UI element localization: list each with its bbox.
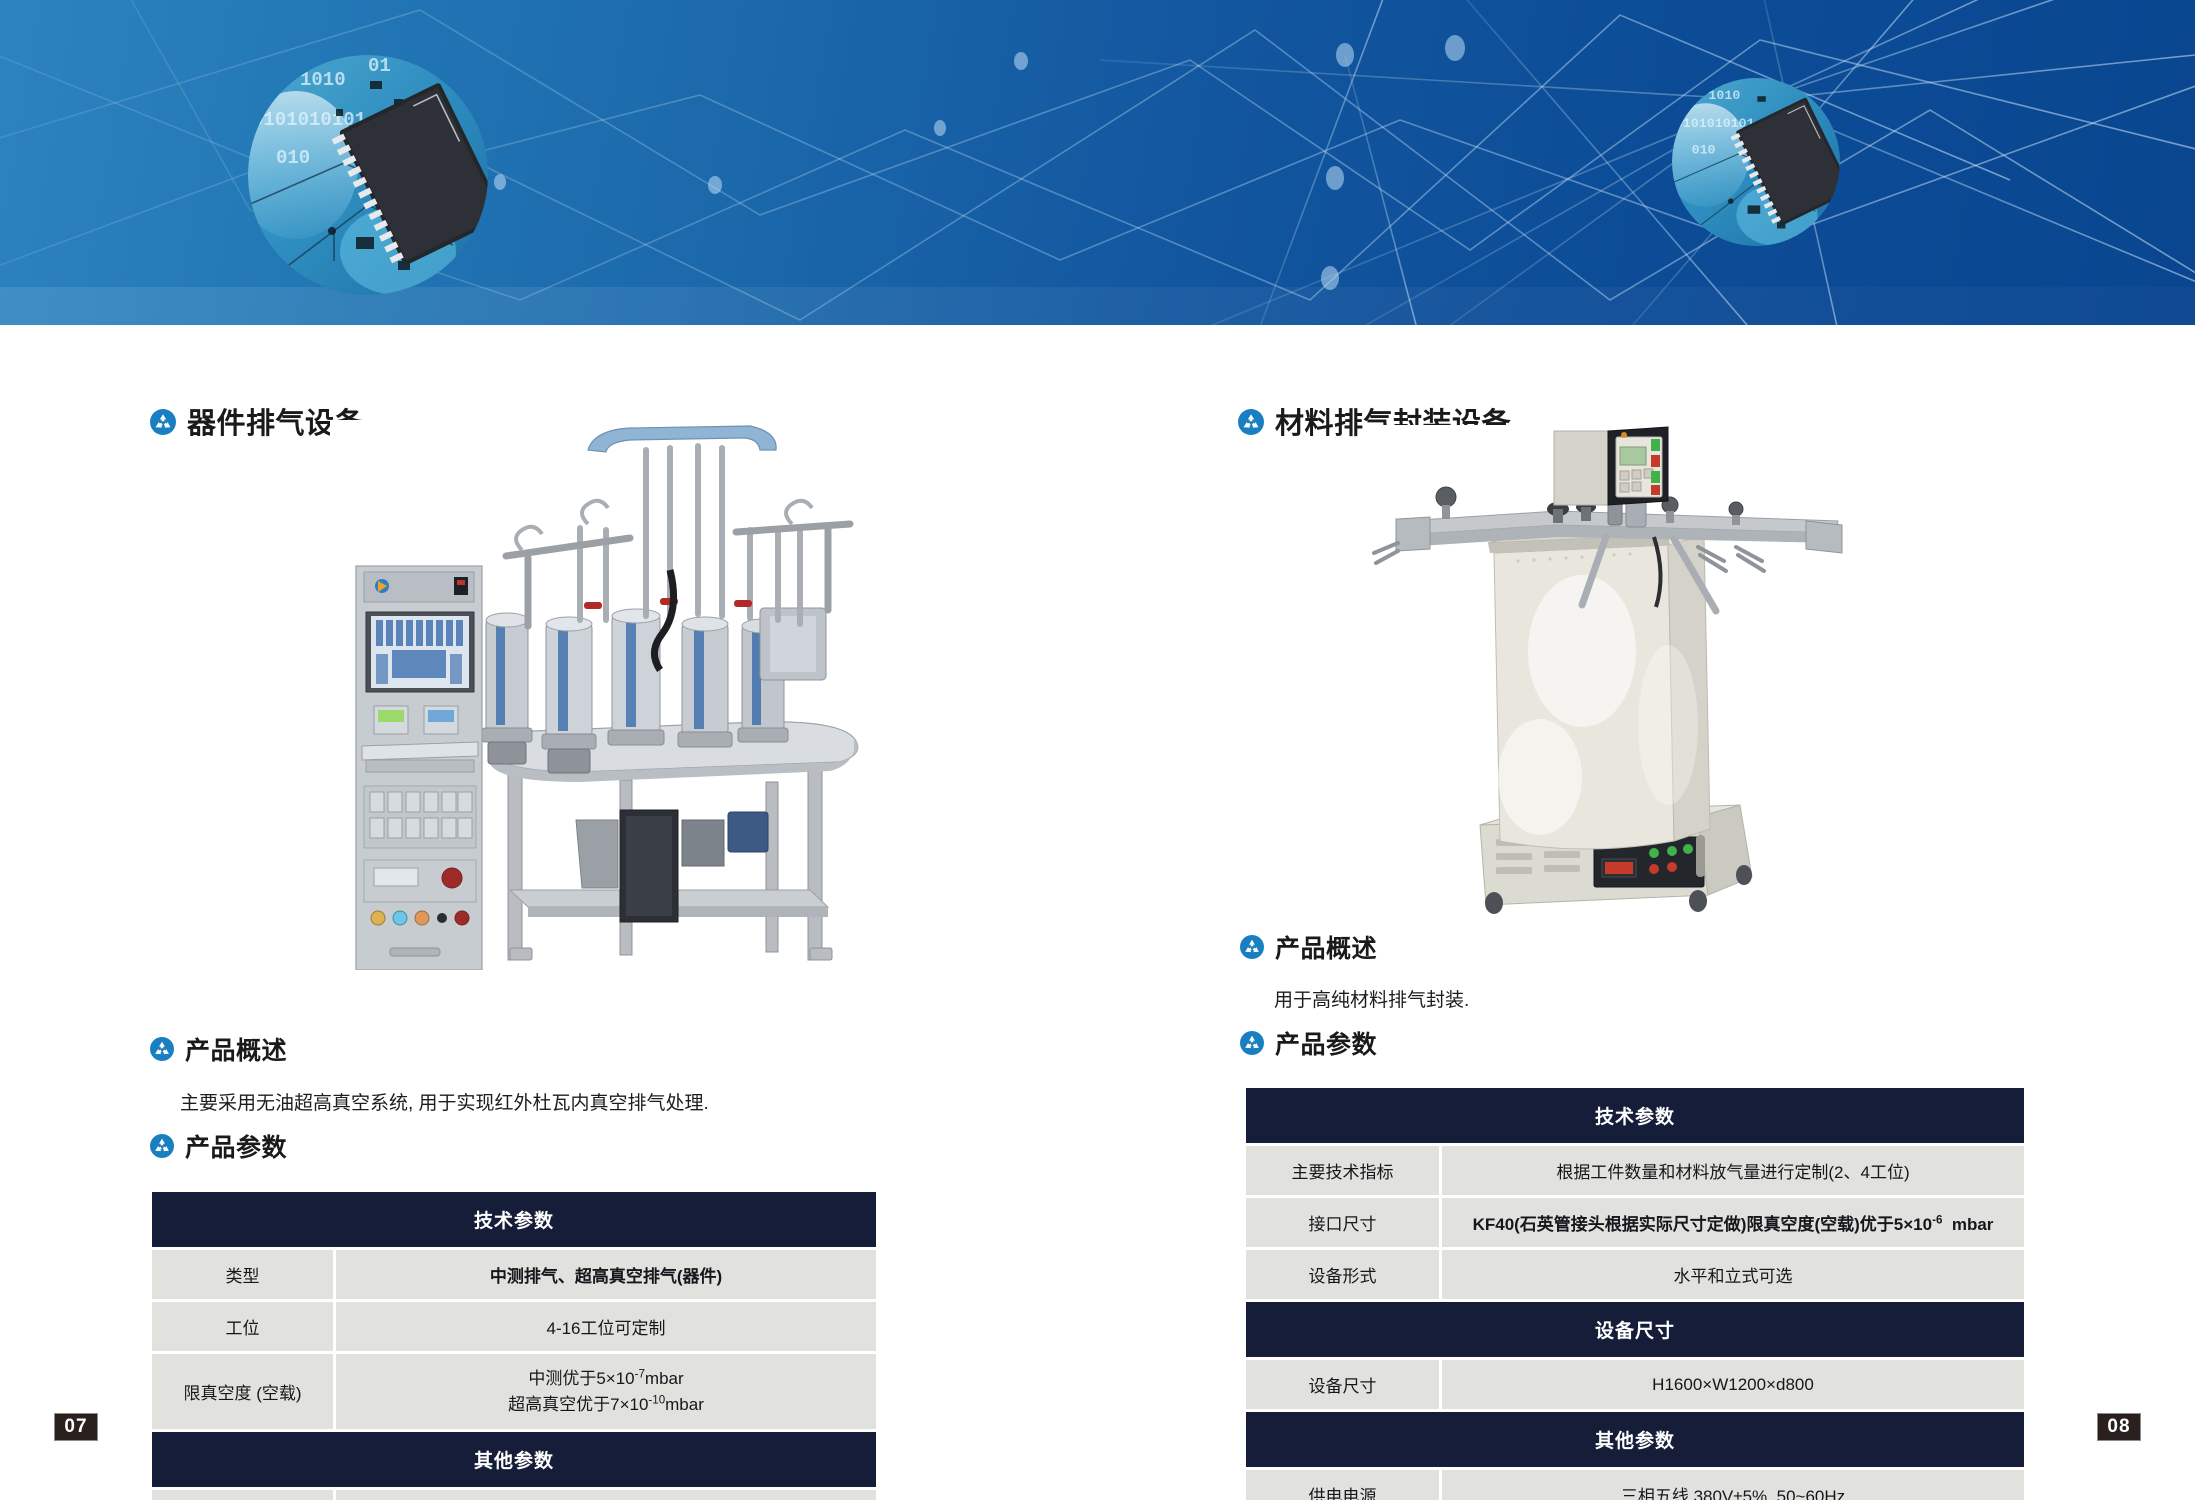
group-title-tech: 技术参数 — [152, 1192, 876, 1250]
recycle-bullet-icon — [1238, 409, 1264, 440]
table-row: 供电电源 三相五线 380V±5%, 50~60Hz — [1246, 1470, 2024, 1500]
row-label: 限真空度 (空载) — [152, 1354, 336, 1432]
row-value: 根据工件数量和材料放气量进行定制(2、4工位) — [1442, 1146, 2024, 1198]
right-overview-text: 用于高纯材料排气封装. — [1274, 987, 1894, 1016]
svg-text:1010: 1010 — [1708, 88, 1740, 103]
left-overview-text: 主要采用无油超高真空系统, 用于实现红外杜瓦内真空排气处理. — [180, 1090, 880, 1119]
vacuum-line-2: 超高真空优于7×10-10mbar — [344, 1392, 868, 1418]
recycle-bullet-icon — [1240, 1031, 1264, 1060]
table-row: 设备尺寸 H1600×W1200×d800 — [1246, 1360, 2024, 1412]
right-spec-table: 技术参数 主要技术指标 根据工件数量和材料放气量进行定制(2、4工位) 接口尺寸… — [1246, 1088, 2024, 1500]
row-label: 主要技术指标 — [1246, 1146, 1442, 1198]
svg-text:1010: 1010 — [300, 69, 346, 91]
row-value: H1600×W1200×d800 — [1442, 1360, 2024, 1412]
page-number-right: 08 — [2097, 1413, 2141, 1441]
group-title-other: 其他参数 — [1246, 1412, 2024, 1470]
row-value: 中测优于5×10-7mbar 超高真空优于7×10-10mbar — [336, 1354, 876, 1432]
page-number-left: 07 — [54, 1413, 98, 1441]
svg-text:01: 01 — [368, 55, 391, 77]
right-params-heading: 产品参数 — [1275, 1033, 1377, 1058]
banner-chip-photo-left: 10100101010101 01001 — [248, 55, 488, 295]
row-value: KF40(石英管接头根据实际尺寸定做)限真空度(空载)优于5×10-6 mbar — [1442, 1198, 2024, 1250]
banner-bottom-band — [0, 287, 2195, 325]
left-spec-table-wrap: 技术参数 类型 中测排气、超高真空排气(器件) 工位 4-16工位可定制 限真空… — [152, 1192, 876, 1500]
table-row: 设备形式 水平和立式可选 — [1246, 1250, 2024, 1302]
table-row: 接口尺寸 KF40(石英管接头根据实际尺寸定做)限真空度(空载)优于5×10-6… — [1246, 1198, 2024, 1250]
right-overview-heading: 产品概述 — [1275, 937, 1377, 962]
svg-text:010: 010 — [276, 147, 310, 169]
table-group-header-row: 设备尺寸 — [1246, 1302, 2024, 1360]
row-value: 三相五线 380V±5%, 50~60Hz — [1442, 1470, 2024, 1500]
left-overview-heading-row: 产品概述 — [150, 1037, 287, 1066]
right-spec-table-wrap: 技术参数 主要技术指标 根据工件数量和材料放气量进行定制(2、4工位) 接口尺寸… — [1246, 1088, 2024, 1500]
row-label: 类型 — [152, 1250, 336, 1302]
recycle-bullet-icon — [150, 409, 176, 440]
recycle-bullet-icon — [150, 1037, 174, 1066]
banner-chip-photo-right: 10100101010101 010 — [1672, 78, 1840, 246]
table-group-header-row: 技术参数 — [1246, 1088, 2024, 1146]
device-exhaust-equipment-photo — [330, 420, 930, 975]
material-exhaust-sealing-equipment-photo — [1368, 425, 1868, 960]
right-overview-heading-row: 产品概述 — [1240, 935, 1377, 964]
brochure-page: 10100101010101 01001 — [0, 0, 2195, 1500]
svg-text:010: 010 — [1692, 143, 1716, 158]
row-value: 4-16工位可定制 — [336, 1302, 876, 1354]
table-group-header-row: 其他参数 — [152, 1432, 876, 1490]
group-title-tech: 技术参数 — [1246, 1088, 2024, 1146]
group-title-dimensions: 设备尺寸 — [1246, 1302, 2024, 1360]
left-spec-table: 技术参数 类型 中测排气、超高真空排气(器件) 工位 4-16工位可定制 限真空… — [152, 1192, 876, 1500]
row-label: 设备形式 — [1246, 1250, 1442, 1302]
left-overview-heading: 产品概述 — [185, 1039, 287, 1064]
recycle-bullet-icon — [1240, 935, 1264, 964]
row-label: 设备尺寸 — [1246, 1360, 1442, 1412]
row-label: 供电电源 — [152, 1490, 336, 1500]
group-title-other: 其他参数 — [152, 1432, 876, 1490]
table-row: 工位 4-16工位可定制 — [152, 1302, 876, 1354]
row-label: 接口尺寸 — [1246, 1198, 1442, 1250]
row-label: 供电电源 — [1246, 1470, 1442, 1500]
table-row: 类型 中测排气、超高真空排气(器件) — [152, 1250, 876, 1302]
table-row: 主要技术指标 根据工件数量和材料放气量进行定制(2、4工位) — [1246, 1146, 2024, 1198]
row-value: 中测排气、超高真空排气(器件) — [336, 1250, 876, 1302]
table-group-header-row: 技术参数 — [152, 1192, 876, 1250]
vacuum-line-1: 中测优于5×10-7mbar — [344, 1366, 868, 1392]
row-value: 380V/220V可选 — [336, 1490, 876, 1500]
table-row: 供电电源 380V/220V可选 — [152, 1490, 876, 1500]
header-banner: 10100101010101 01001 — [0, 0, 2195, 325]
row-label: 工位 — [152, 1302, 336, 1354]
row-value: 水平和立式可选 — [1442, 1250, 2024, 1302]
table-row: 限真空度 (空载) 中测优于5×10-7mbar 超高真空优于7×10-10mb… — [152, 1354, 876, 1432]
left-params-heading: 产品参数 — [185, 1136, 287, 1161]
right-params-heading-row: 产品参数 — [1240, 1031, 1377, 1060]
recycle-bullet-icon — [150, 1134, 174, 1163]
table-group-header-row: 其他参数 — [1246, 1412, 2024, 1470]
left-params-heading-row: 产品参数 — [150, 1134, 287, 1163]
